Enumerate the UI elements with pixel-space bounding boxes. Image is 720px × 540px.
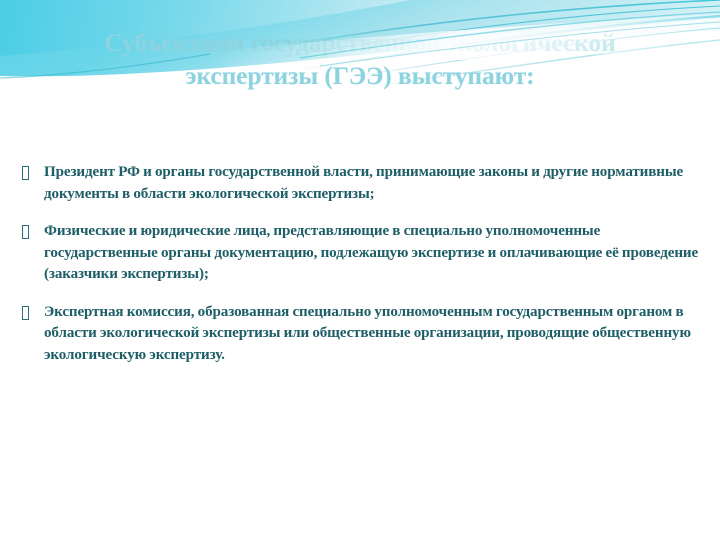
list-item-text: Физические и юридические лица, представл…	[44, 221, 700, 286]
list-item: Президент РФ и органы государственной вл…	[22, 162, 700, 205]
list-item: Экспертная комиссия, образованная специа…	[22, 302, 700, 367]
slide-title-line-2: экспертизы (ГЭЭ) выступают:	[36, 59, 684, 92]
slide-title: Субъектами государственной экологической…	[36, 26, 684, 92]
list-item-text: Экспертная комиссия, образованная специа…	[44, 302, 700, 367]
slide-title-line-1: Субъектами государственной экологической	[36, 26, 684, 59]
bullet-marker-icon	[22, 221, 44, 239]
list-item-text: Президент РФ и органы государственной вл…	[44, 162, 700, 205]
slide-canvas: Субъектами государственной экологической…	[0, 0, 720, 540]
bullet-marker-icon	[22, 302, 44, 320]
list-item: Физические и юридические лица, представл…	[22, 221, 700, 286]
bullet-list: Президент РФ и органы государственной вл…	[22, 162, 700, 366]
bullet-marker-icon	[22, 162, 44, 180]
